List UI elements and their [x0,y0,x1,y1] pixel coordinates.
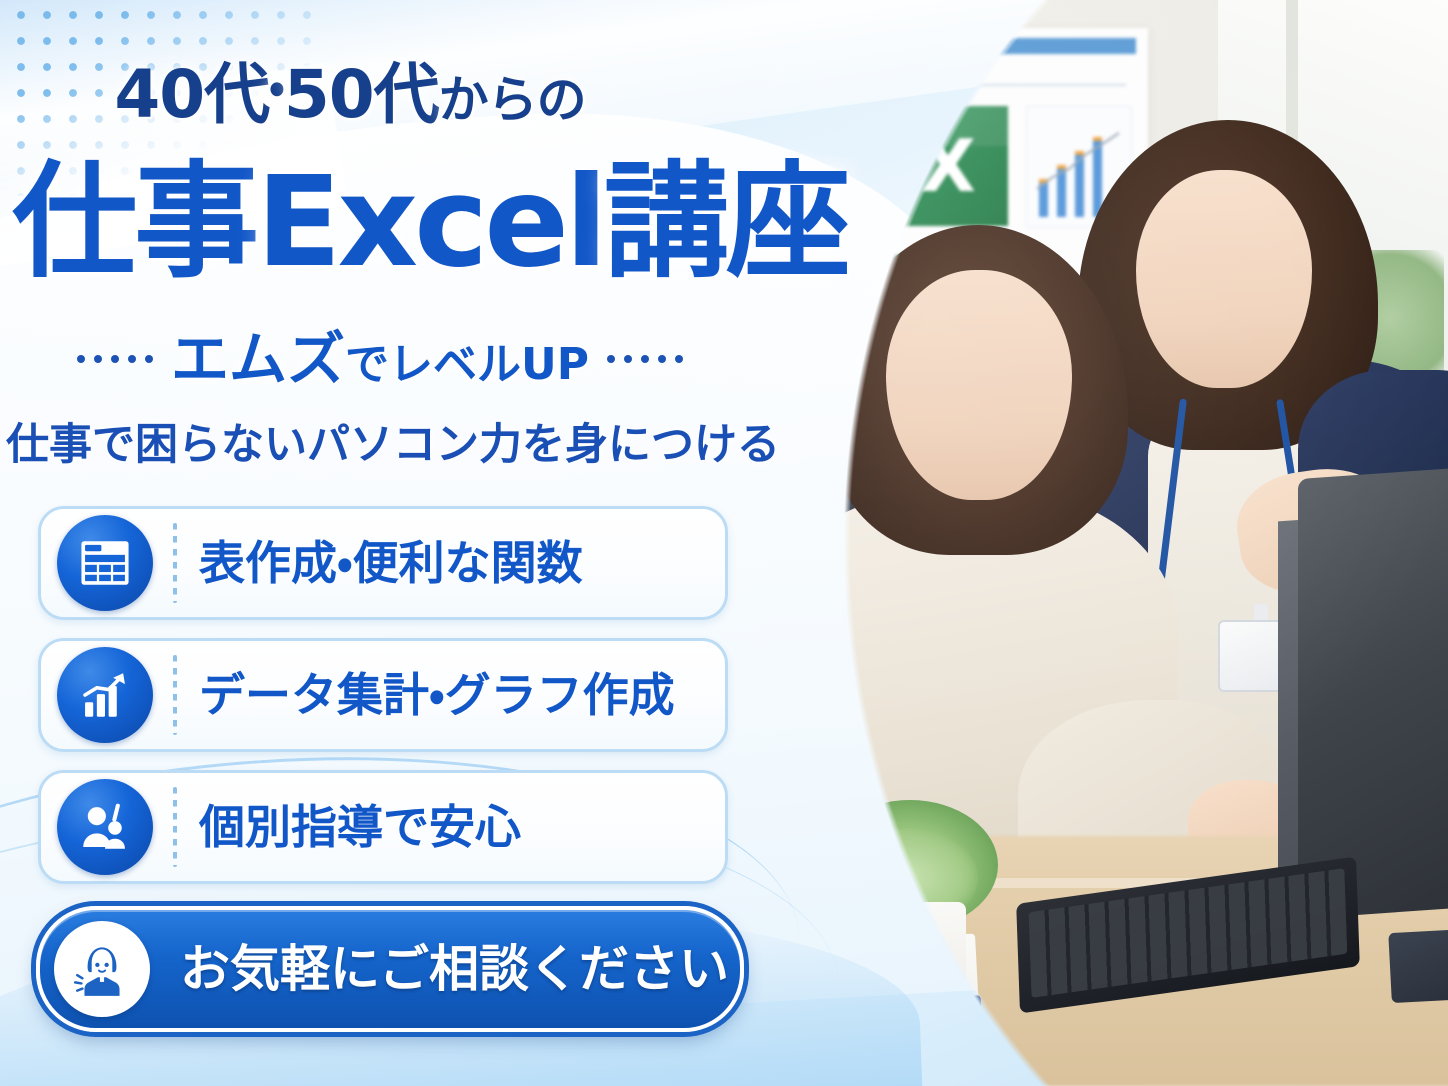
bar-chart-growth-icon [57,647,153,743]
kicker-separator: ・ [269,60,284,114]
feature-divider [173,655,177,735]
title-part3: 講座 [604,150,848,295]
feature-list: 表作成・便利な関数 データ集計・グラフ作成 [38,506,728,902]
tagline-wrapper: 仕事で困らないパソコン力を身につける [0,422,760,473]
feature-card-spreadsheet[interactable]: 表作成・便利な関数 [38,506,728,620]
main-title: 仕事Excel講座 [0,160,860,285]
tagline: 仕事で困らないパソコン力を身につける [0,422,786,473]
title-part1: 仕事 [12,150,256,295]
subtitle-particle: で [345,339,389,390]
subtitle-brand: エムズ [171,325,345,393]
cta-label: お気軽にご相談ください [180,944,729,994]
subtitle-row: エムズでレベルUP [0,330,760,388]
feature-card-chart[interactable]: データ集計・グラフ作成 [38,638,728,752]
feature-label: 表作成・便利な関数 [199,540,583,586]
dotted-line-left [77,355,153,363]
feature-divider [173,523,177,603]
cta-button[interactable]: お気軽にご相談ください [36,906,744,1032]
subtitle-levelup: レベルUP [389,339,589,390]
feature-label: データ集計・グラフ作成 [199,672,675,718]
feature-divider [173,787,177,867]
feature-label: 個別指導で安心 [199,804,521,850]
excel-course-banner: 40代・50代からの 仕事Excel講座 エムズでレベルUP 仕事で困らないパソ… [0,0,1448,1086]
spreadsheet-icon [57,515,153,611]
instructor-student-icon [57,779,153,875]
female-staff-icon [54,921,150,1017]
subtitle: エムズでレベルUP [171,330,589,388]
kicker-headline: 40代・50代からの [0,62,700,128]
kicker-age2: 50代 [284,56,439,133]
dotted-line-right [607,355,683,363]
feature-card-instruction[interactable]: 個別指導で安心 [38,770,728,884]
content-column: 40代・50代からの 仕事Excel講座 エムズでレベルUP 仕事で困らないパソ… [0,0,760,1086]
title-part2: Excel [256,150,604,295]
kicker-suffix: からの [439,71,586,129]
kicker-age1: 40代 [114,56,269,133]
